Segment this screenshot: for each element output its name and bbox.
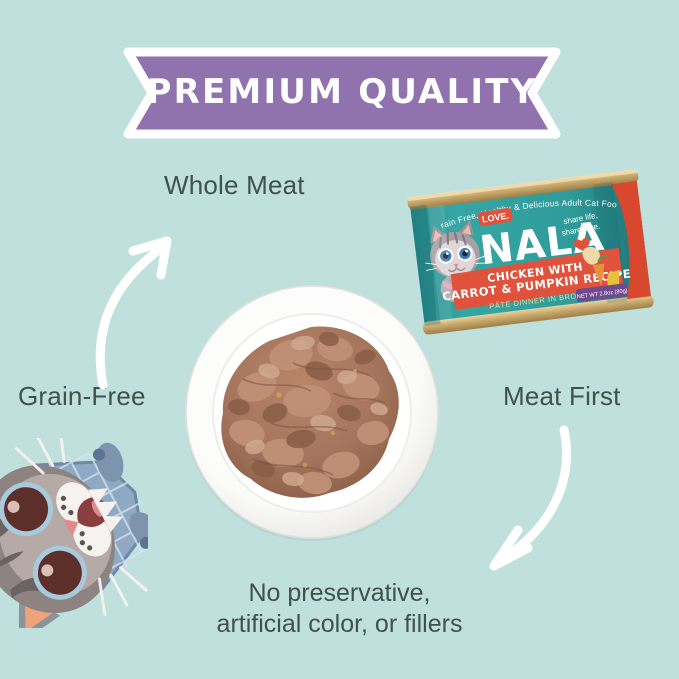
callout-meat-first: Meat First bbox=[503, 381, 621, 412]
nala-cat-mascot bbox=[0, 438, 148, 628]
callout-whole-meat: Whole Meat bbox=[164, 170, 305, 201]
premium-quality-banner: PREMIUM QUALiTY bbox=[118, 44, 566, 142]
arrow-up-whole-meat-icon bbox=[85, 225, 195, 390]
product-can: Grain Free, Healthy & Delicious Adult Ca… bbox=[405, 160, 670, 350]
banner-title: PREMIUM QUALiTY bbox=[118, 44, 566, 142]
arrow-down-meat-first-icon bbox=[470, 420, 590, 580]
can-body: Grain Free, Healthy & Delicious Adult Ca… bbox=[405, 160, 654, 337]
plate-with-food bbox=[183, 283, 441, 541]
promo-graphic: PREMIUM QUALiTY Whole Meat Grain-Free Me… bbox=[0, 0, 679, 679]
